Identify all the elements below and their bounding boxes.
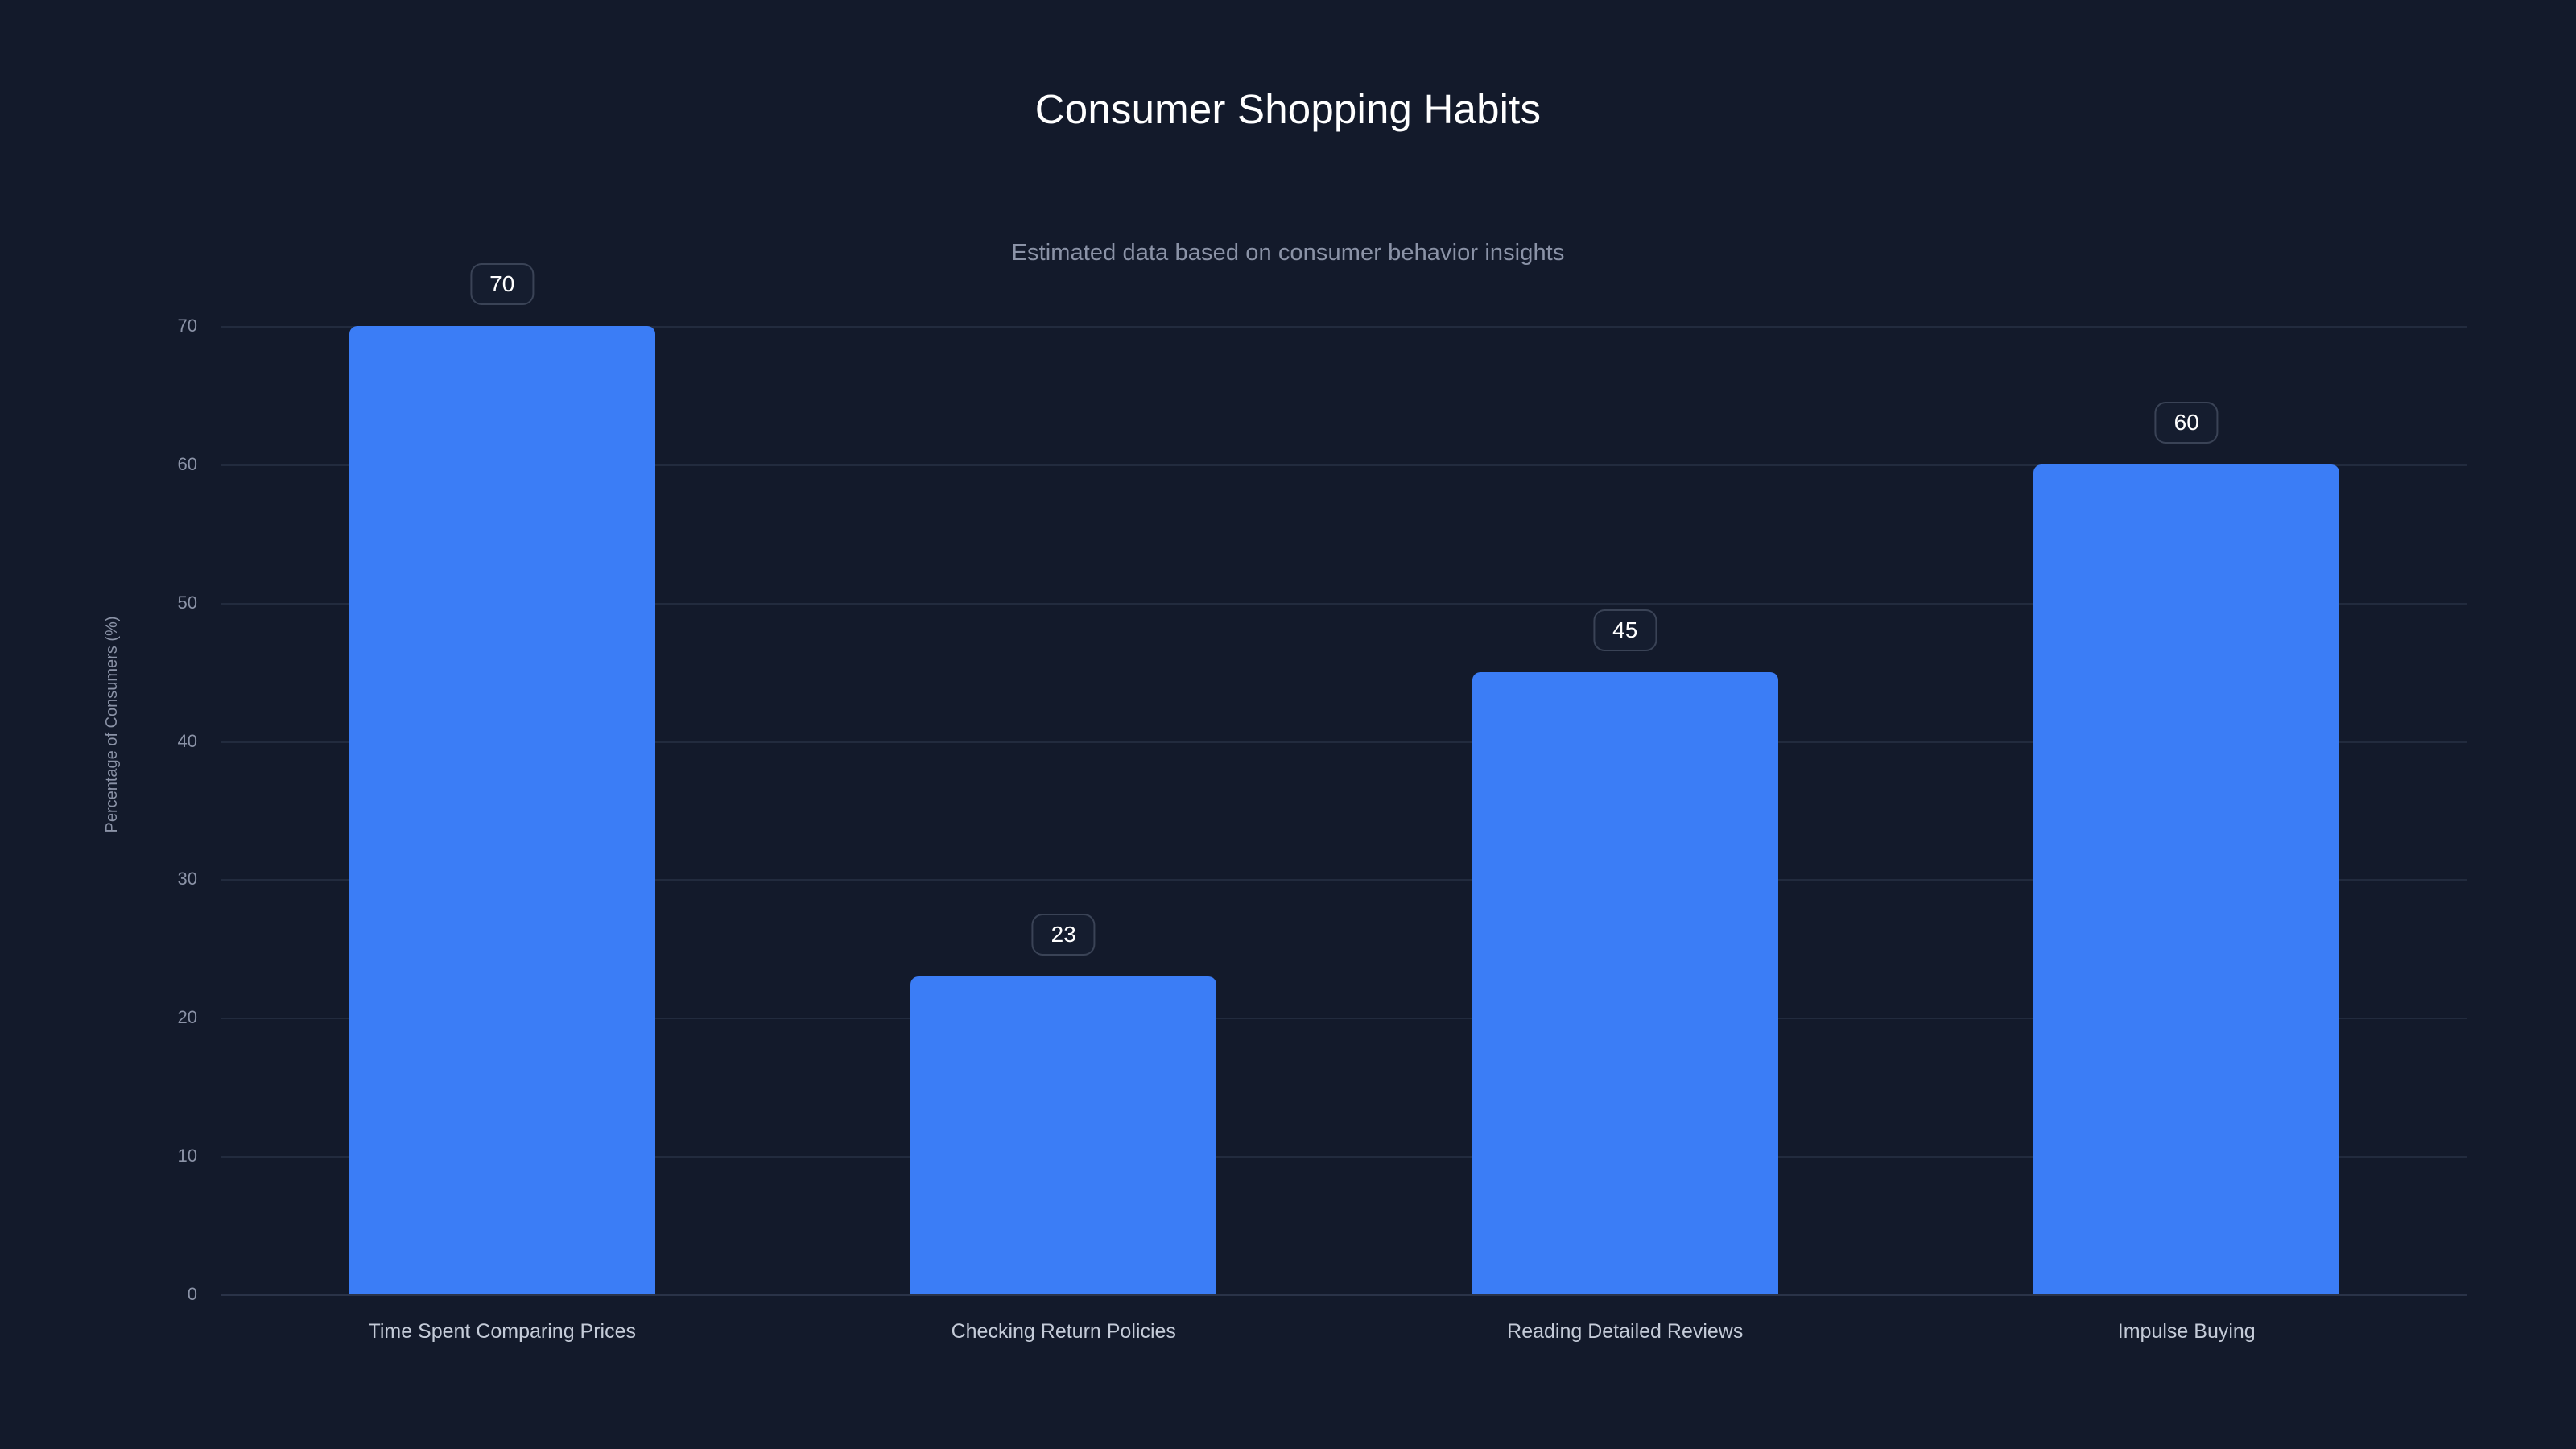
bar[interactable] — [2033, 464, 2339, 1294]
x-axis-category-label: Reading Detailed Reviews — [1507, 1320, 1743, 1344]
y-axis-tick: 40 — [101, 731, 197, 752]
bar[interactable] — [349, 326, 655, 1294]
y-axis-tick: 70 — [101, 316, 197, 336]
y-axis-label: Percentage of Consumers (%) — [103, 616, 122, 832]
x-axis-category-label: Impulse Buying — [2118, 1320, 2256, 1344]
x-axis-category-label: Time Spent Comparing Prices — [368, 1320, 636, 1344]
x-axis-category-label: Checking Return Policies — [952, 1320, 1176, 1344]
y-axis-tick: 0 — [101, 1284, 197, 1305]
chart-title: Consumer Shopping Habits — [0, 87, 2576, 132]
axis-baseline — [221, 1294, 2467, 1296]
y-axis-tick: 10 — [101, 1146, 197, 1166]
y-axis-tick: 50 — [101, 592, 197, 613]
y-axis-tick: 30 — [101, 869, 197, 890]
bar-value-badge: 45 — [1593, 609, 1657, 651]
chart-canvas: Consumer Shopping Habits Estimated data … — [0, 0, 2576, 1449]
bar-value-badge: 60 — [2155, 402, 2219, 444]
y-axis-tick: 20 — [101, 1007, 197, 1028]
bar-value-badge: 70 — [470, 263, 534, 305]
plot-area — [221, 326, 2467, 1294]
chart-subtitle: Estimated data based on consumer behavio… — [0, 240, 2576, 266]
bar[interactable] — [1472, 672, 1778, 1294]
bar-value-badge: 23 — [1032, 914, 1096, 956]
bar[interactable] — [910, 976, 1216, 1294]
y-axis-tick: 60 — [101, 454, 197, 475]
